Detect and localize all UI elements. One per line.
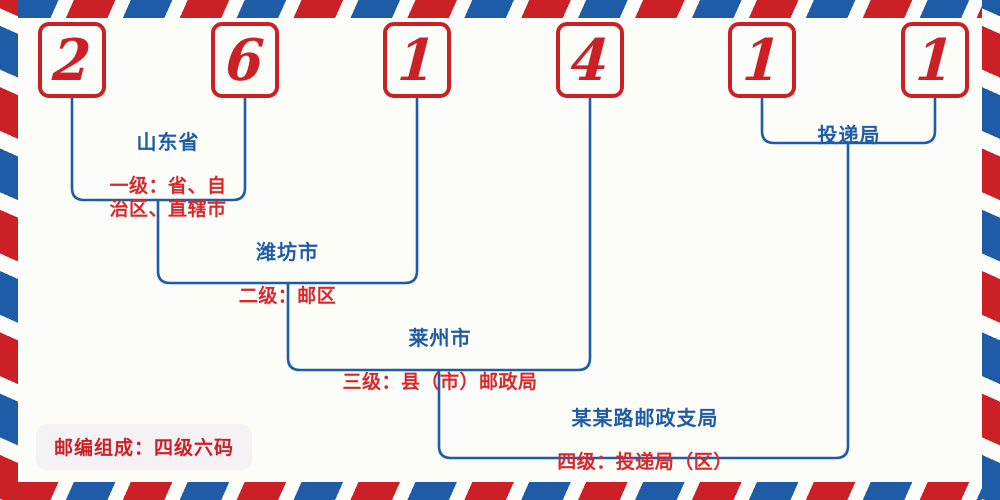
label-level-1-subtitle: 一级：省、自 治区、直辖市	[78, 175, 258, 220]
airmail-stripes-top	[0, 0, 1000, 18]
digit-glyph-4: 4	[569, 31, 611, 88]
digit-cell-5[interactable]: 1	[728, 22, 796, 98]
label-level-4-title: 某某路邮政支局	[450, 407, 840, 431]
airmail-border-top	[0, 0, 1000, 18]
digit-cell-4[interactable]: 4	[556, 22, 624, 98]
airmail-stripes-right	[982, 0, 1000, 500]
digit-cell-1[interactable]: 2	[38, 22, 106, 98]
label-delivery-office: 投递局	[774, 105, 924, 166]
footnote-chip: 邮编组成：四级六码	[36, 424, 252, 470]
airmail-border-right	[982, 0, 1000, 500]
label-level-2-subtitle: 二级：邮区	[170, 285, 405, 307]
digit-glyph-1: 2	[51, 31, 93, 88]
footnote-text: 邮编组成：四级六码	[54, 437, 234, 459]
digit-cell-2[interactable]: 6	[211, 22, 279, 98]
label-level-4: 某某路邮政支局 四级：投递局（区）	[450, 388, 840, 493]
postcode-structure-diagram: 2 6 1 4 1 1 山东省 一级：省、自 治区、直辖市 潍坊市 二级：邮区 …	[0, 0, 1000, 500]
digit-glyph-3: 1	[396, 31, 438, 88]
digit-glyph-2: 6	[224, 31, 266, 88]
label-level-1-title: 山东省	[78, 131, 258, 155]
label-delivery-office-title: 投递局	[774, 124, 924, 148]
label-level-2-title: 潍坊市	[170, 241, 405, 265]
label-level-4-subtitle: 四级：投递局（区）	[450, 451, 840, 473]
digit-cell-6[interactable]: 1	[901, 22, 969, 98]
digit-cell-3[interactable]: 1	[383, 22, 451, 98]
airmail-border-left	[0, 0, 18, 500]
digit-glyph-5: 1	[741, 31, 783, 88]
label-level-1: 山东省 一级：省、自 治区、直辖市	[78, 112, 258, 239]
label-level-3-title: 莱州市	[300, 327, 580, 351]
digit-glyph-6: 1	[914, 31, 956, 88]
airmail-stripes-left	[0, 0, 18, 500]
